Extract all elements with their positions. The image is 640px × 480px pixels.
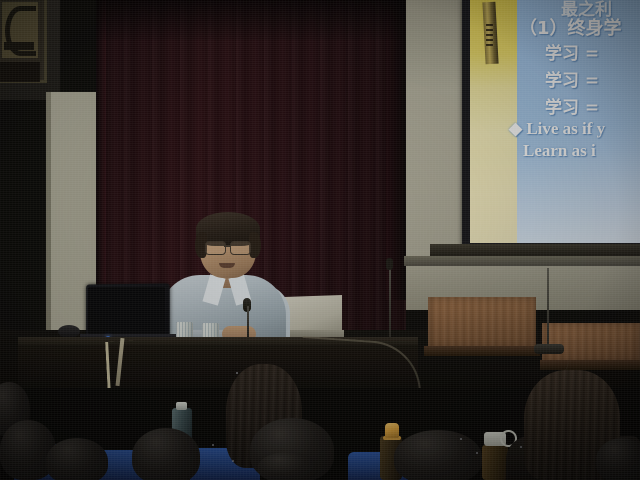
- microphone-icon: [386, 258, 393, 270]
- slide-subitem-2: 学习 =: [545, 73, 599, 90]
- slide-subitem-1: 学习 =: [545, 46, 599, 63]
- slide-english-1: ◆ Live as if y: [509, 120, 605, 137]
- stage-chair-left: [428, 297, 536, 349]
- lecture-hall-photo: 最之利 （1）终身学 学习 = 学习 = 学习 = ◆ Live as if y…: [0, 0, 640, 480]
- sequin-sparkle: [212, 444, 214, 446]
- orange-cap-bottle-cap[interactable]: [385, 423, 399, 438]
- audience-head: [132, 428, 200, 480]
- stray-light-point: [236, 372, 238, 374]
- sequin-sparkle: [460, 438, 462, 440]
- projection-screen: 最之利 （1）终身学 学习 = 学习 = 学习 = ◆ Live as if y…: [470, 0, 640, 243]
- table-microphone-pole: [247, 306, 249, 340]
- presenter-mouth: [219, 263, 235, 268]
- curtain-top-shadow: [96, 0, 406, 40]
- wall-panel-seam-left: [46, 92, 51, 354]
- slide-text-body: 最之利 （1）终身学 学习 = 学习 = 学习 = ◆ Live as if y…: [517, 0, 640, 243]
- audience-head: [46, 438, 108, 480]
- screen-shelf: [404, 256, 640, 266]
- chair-fabric-texture: [428, 297, 536, 349]
- slide-scroll-detail-icon: [486, 24, 493, 46]
- slide-english-2: Learn as i: [523, 142, 596, 159]
- white-cap-bottle[interactable]: [482, 445, 508, 480]
- clear-water-bottle-cap[interactable]: [176, 402, 187, 410]
- laptop-screen[interactable]: [88, 287, 165, 334]
- plaque-logo-bar-icon: [4, 42, 34, 50]
- slide-item-1: （1）终身学: [519, 20, 622, 38]
- microphone-stand-pole: [547, 268, 549, 346]
- sequin-sparkle: [476, 452, 478, 454]
- sequin-sparkle: [232, 460, 234, 462]
- audience-head: [258, 452, 318, 480]
- glasses-lens-right-icon: [230, 241, 251, 255]
- curtain-edge-left: [96, 0, 106, 330]
- plaque-shadow: [0, 62, 40, 82]
- sequin-sparkle: [520, 446, 522, 448]
- glasses-lens-left-icon: [205, 241, 226, 255]
- audience-head: [596, 438, 640, 480]
- curtain-edge-right: [386, 0, 406, 300]
- screen-bottom-rail: [430, 244, 640, 256]
- glasses-bridge-icon: [224, 245, 230, 247]
- slide-heading: 最之利: [561, 2, 612, 19]
- slide-subitem-3: 学习 =: [545, 100, 599, 117]
- audience-head: [394, 430, 482, 480]
